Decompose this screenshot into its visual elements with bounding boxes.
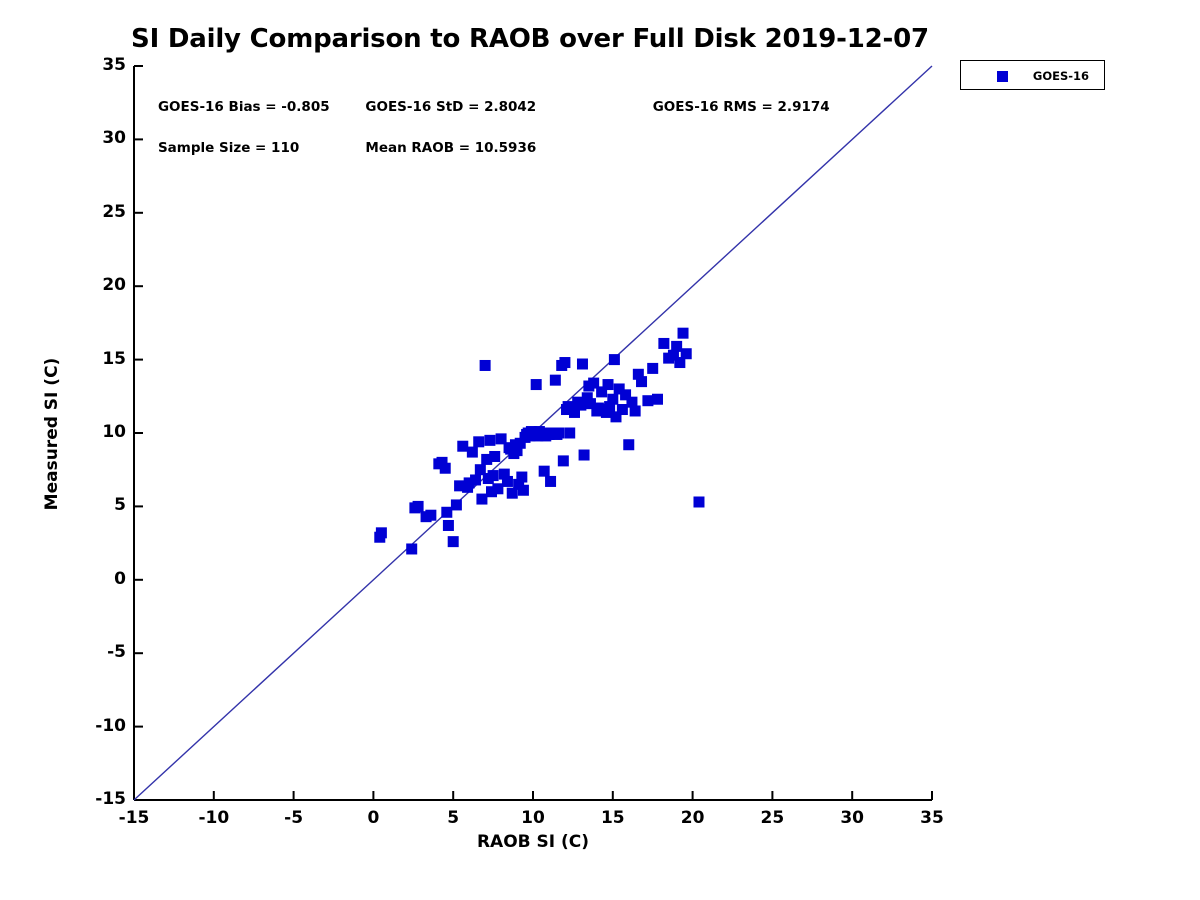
y-tick-label: 35 xyxy=(72,57,126,74)
annotation-mean-raob: Mean RAOB = 10.5936 xyxy=(365,140,536,156)
data-point xyxy=(531,379,542,390)
x-tick-label: -15 xyxy=(104,810,164,827)
y-tick-label: 20 xyxy=(72,277,126,294)
x-tick-label: 25 xyxy=(742,810,802,827)
plot-canvas xyxy=(0,0,1200,900)
annotation-sample-size: Sample Size = 110 xyxy=(158,140,299,156)
data-point xyxy=(630,405,641,416)
x-tick-label: 0 xyxy=(343,810,403,827)
data-point xyxy=(550,375,561,386)
x-tick-label: 5 xyxy=(423,810,483,827)
x-tick-label: 20 xyxy=(663,810,723,827)
data-point xyxy=(553,428,564,439)
data-point xyxy=(476,494,487,505)
y-tick-label: 10 xyxy=(72,424,126,441)
data-point xyxy=(609,354,620,365)
data-point xyxy=(406,543,417,554)
data-point xyxy=(693,496,704,507)
data-point xyxy=(492,483,503,494)
data-point xyxy=(516,472,527,483)
x-tick-label: 30 xyxy=(822,810,882,827)
data-point xyxy=(480,360,491,371)
data-point xyxy=(642,395,653,406)
data-point xyxy=(603,379,614,390)
data-point xyxy=(681,348,692,359)
annotation-bias: GOES-16 Bias = -0.805 xyxy=(158,99,330,115)
x-tick-label: 35 xyxy=(902,810,962,827)
data-point xyxy=(539,466,550,477)
data-point xyxy=(623,439,634,450)
y-tick-label: 30 xyxy=(72,130,126,147)
data-point xyxy=(413,501,424,512)
data-point xyxy=(467,447,478,458)
x-tick-label: -5 xyxy=(264,810,324,827)
data-point xyxy=(457,441,468,452)
x-tick-label: 15 xyxy=(583,810,643,827)
data-point xyxy=(671,341,682,352)
data-point xyxy=(658,338,669,349)
x-tick-label: -10 xyxy=(184,810,244,827)
data-point xyxy=(558,455,569,466)
legend-marker-icon xyxy=(997,71,1008,82)
y-tick-label: 15 xyxy=(72,351,126,368)
scatter-plot-figure: SI Daily Comparison to RAOB over Full Di… xyxy=(0,0,1200,900)
data-point xyxy=(607,394,618,405)
data-point xyxy=(678,328,689,339)
y-tick-label: 25 xyxy=(72,204,126,221)
data-point xyxy=(376,527,387,538)
y-tick-label: 5 xyxy=(72,497,126,514)
legend: GOES-16 xyxy=(960,60,1105,90)
annotation-rms: GOES-16 RMS = 2.9174 xyxy=(653,99,830,115)
data-point xyxy=(451,499,462,510)
data-point xyxy=(647,363,658,374)
data-point xyxy=(559,357,570,368)
data-point xyxy=(617,404,628,415)
legend-label: GOES-16 xyxy=(1021,69,1101,83)
data-point xyxy=(470,474,481,485)
data-point xyxy=(425,510,436,521)
data-point xyxy=(489,451,500,462)
data-point xyxy=(577,359,588,370)
annotation-std: GOES-16 StD = 2.8042 xyxy=(365,99,536,115)
x-tick-label: 10 xyxy=(503,810,563,827)
data-point xyxy=(579,450,590,461)
data-point xyxy=(473,436,484,447)
y-tick-label: 0 xyxy=(72,571,126,588)
y-tick-label: -15 xyxy=(72,791,126,808)
data-point xyxy=(440,463,451,474)
data-point xyxy=(652,394,663,405)
data-point xyxy=(484,435,495,446)
data-point xyxy=(502,476,513,487)
data-point xyxy=(545,476,556,487)
y-tick-label: -5 xyxy=(72,644,126,661)
data-point xyxy=(441,507,452,518)
data-point xyxy=(636,376,647,387)
data-point xyxy=(443,520,454,531)
data-points-group xyxy=(374,328,704,555)
data-point xyxy=(448,536,459,547)
data-point xyxy=(518,485,529,496)
x-axis-label: RAOB SI (C) xyxy=(134,832,932,852)
y-axis-label: Measured SI (C) xyxy=(42,334,62,534)
data-point xyxy=(564,428,575,439)
y-tick-label: -10 xyxy=(72,718,126,735)
data-point xyxy=(488,470,499,481)
